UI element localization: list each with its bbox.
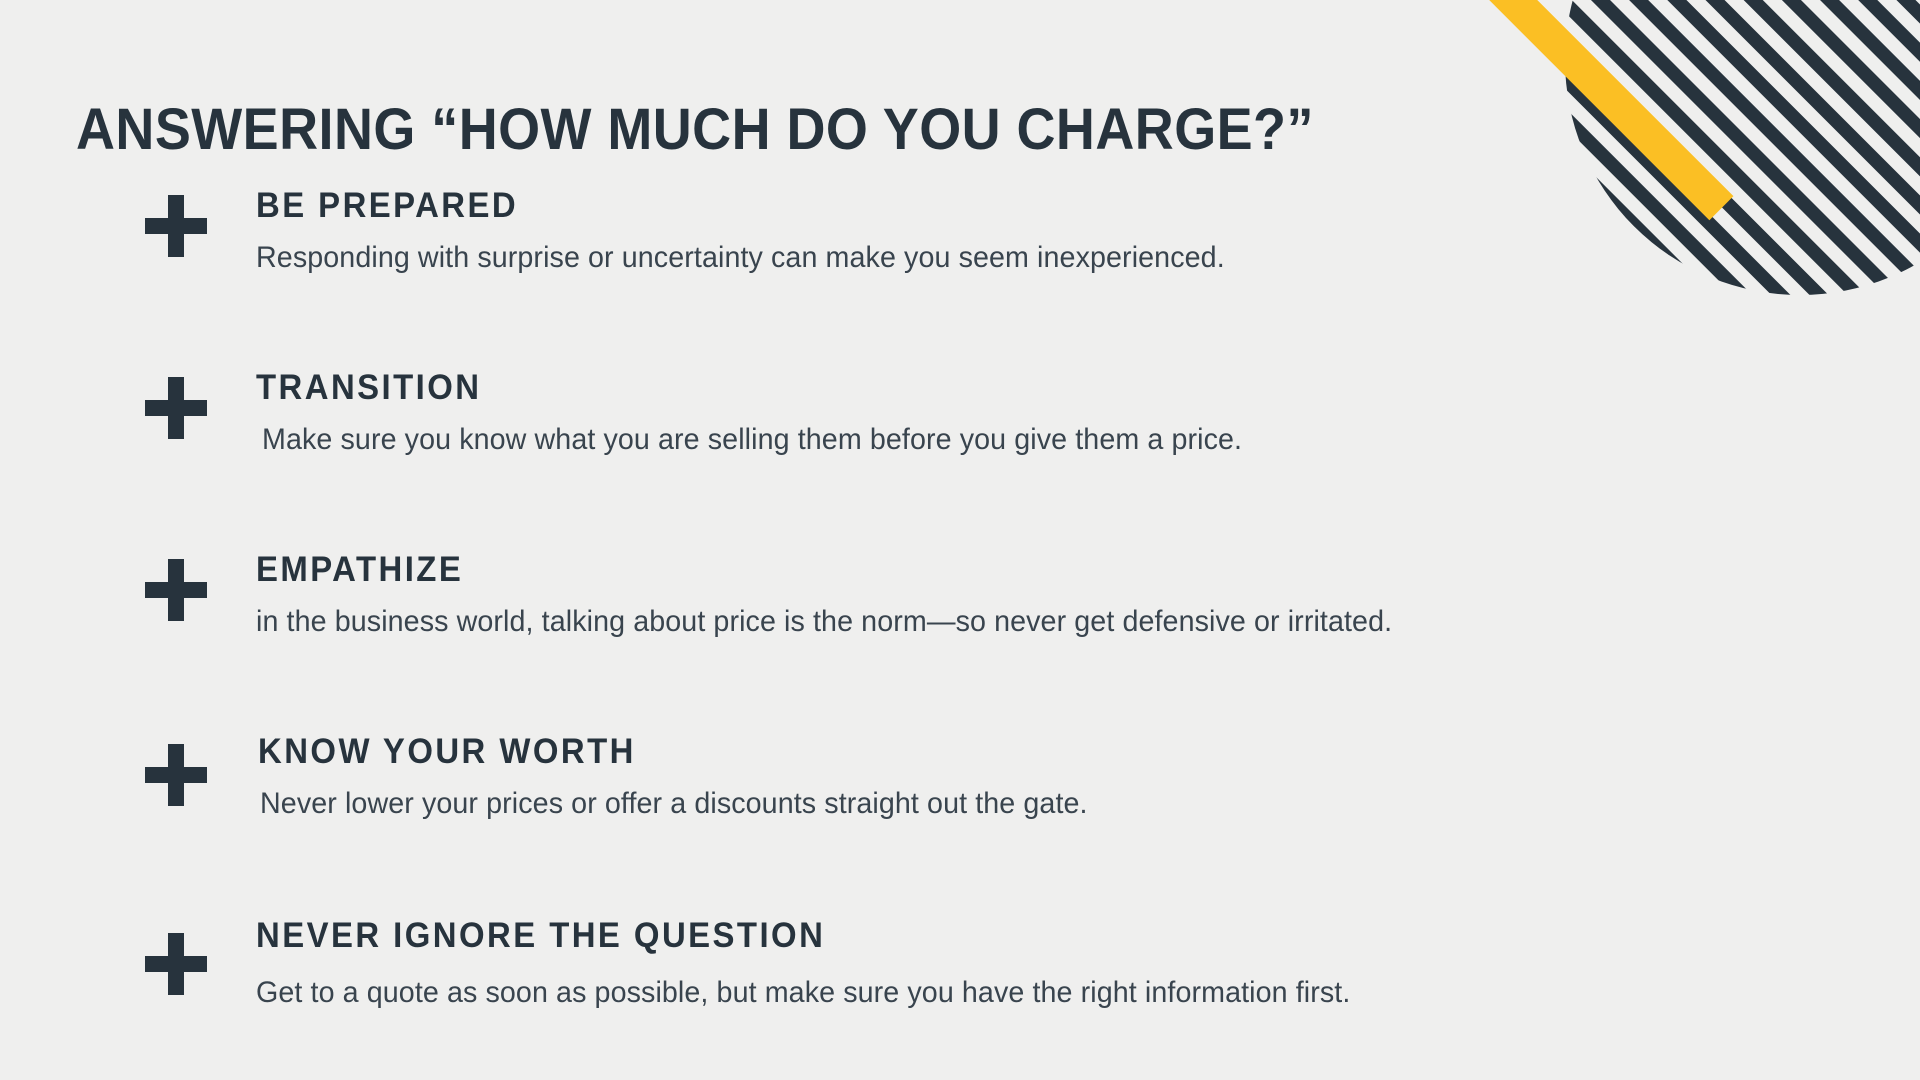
list-item-body: in the business world, talking about pri… (256, 605, 1392, 639)
list-item: NEVER IGNORE THE QUESTION Get to a quote… (0, 896, 1920, 1078)
list-item-body: Responding with surprise or uncertainty … (256, 241, 1225, 275)
list-item-heading: BE PREPARED (256, 186, 518, 226)
list-item-heading: EMPATHIZE (256, 550, 463, 590)
list-item: EMPATHIZE in the business world, talking… (0, 532, 1920, 714)
list-item-body: Get to a quote as soon as possible, but … (256, 976, 1350, 1010)
list-item-body: Never lower your prices or offer a disco… (260, 787, 1088, 821)
list-item: KNOW YOUR WORTH Never lower your prices … (0, 714, 1920, 896)
plus-icon (145, 933, 207, 995)
plus-icon (145, 377, 207, 439)
list-item-body: Make sure you know what you are selling … (262, 423, 1242, 457)
plus-icon (145, 559, 207, 621)
list-item: BE PREPARED Responding with surprise or … (0, 168, 1920, 350)
plus-icon (145, 744, 207, 806)
list-item: TRANSITION Make sure you know what you a… (0, 350, 1920, 532)
plus-icon (145, 195, 207, 257)
list-item-heading: KNOW YOUR WORTH (258, 732, 636, 772)
list-item-heading: NEVER IGNORE THE QUESTION (256, 916, 825, 956)
page-title: ANSWERING “HOW MUCH DO YOU CHARGE?” (76, 101, 1314, 159)
infographic-canvas: ANSWERING “HOW MUCH DO YOU CHARGE?” BE P… (0, 0, 1920, 1080)
list-item-heading: TRANSITION (256, 368, 481, 408)
tips-list: BE PREPARED Responding with surprise or … (0, 168, 1920, 1078)
